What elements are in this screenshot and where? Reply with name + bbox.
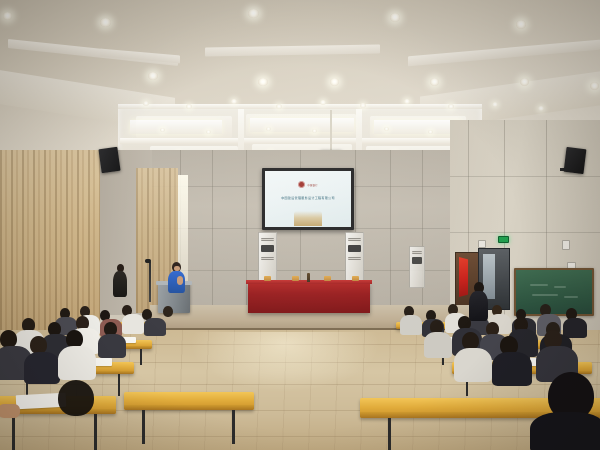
downlight [258,78,268,86]
screen-logo-text: 中国银行 [307,183,317,187]
downlight-small [312,129,317,133]
water-bottle [307,273,310,282]
downlight-small [492,102,498,107]
name-placard [292,276,299,281]
name-placard [264,276,271,281]
audience-body [98,334,126,358]
downlight [590,82,599,90]
exit-sign-right [498,236,509,243]
downlight-small [276,104,282,109]
downlight [330,78,339,86]
downlight [3,12,12,20]
downlight-small [538,106,544,111]
foreground-head-left [58,380,94,416]
presenter-arm [177,276,183,285]
green-chalkboard [514,268,594,316]
downlight-small [231,99,237,104]
audience-body [400,315,422,335]
downlight-small [266,127,271,131]
downlight [248,9,259,18]
screen-surface: 中国银行 中国建设管理服务设计工程有限公司 [265,171,351,227]
downlight-small [360,103,366,108]
ceiling-rib-h1 [120,138,480,144]
standing-person-right [469,291,488,321]
downlight [100,18,111,27]
floor-ac-left [258,232,277,282]
audience-head [163,306,173,317]
floor-ac-right [345,232,364,282]
downlight-small [320,100,326,105]
wall-speaker-left [98,147,120,173]
audience-body [424,332,452,358]
audience-body [122,314,144,334]
screen-logo: 中国银行 [265,181,351,188]
wall-box-mid [478,240,486,248]
chinese-flag [459,257,468,297]
downlight [520,78,529,86]
downlight-small [404,99,410,104]
screen-artwork [294,211,322,226]
wall-box-right [562,240,570,250]
downlight-small [143,101,149,106]
head-table [248,283,370,313]
projector-mount-icon [330,110,332,154]
ceiling-soffit-right [408,40,600,67]
audience-body [58,346,96,380]
microphone-icon [145,259,151,263]
name-placard [352,276,359,281]
lecture-hall-photo: 中国银行 中国建设管理服务设计工程有限公司 [0,0,600,450]
downlight [516,20,526,29]
downlight [430,78,439,86]
downlight-small [448,104,454,109]
downlight [148,72,158,80]
audience-body [454,348,492,382]
wall-speaker-right [564,147,587,174]
floor-light-reflection [190,332,380,392]
ceiling-soffit-center [205,44,380,56]
standing-person-left [113,271,127,297]
downlight-small [206,130,211,134]
name-placard [324,276,331,281]
microphone-stand [149,262,151,302]
ceiling-rib-edge [118,104,482,109]
downlight-small [384,127,389,131]
downlight-small [160,128,165,132]
audience-body [492,352,532,386]
audience-body [563,318,587,338]
downlight-small [186,104,192,109]
floor-ac-far-right [409,246,425,288]
bank-logo-icon [298,181,305,188]
hand-on-desk [0,404,20,418]
curtain-left-near [0,152,46,342]
audience-body [24,352,60,384]
audience-body [144,318,166,336]
downlight [390,13,400,22]
projection-screen: 中国银行 中国建设管理服务设计工程有限公司 [262,168,354,230]
screen-title-text: 中国建设管理服务设计工程有限公司 [270,196,346,200]
downlight-small [428,130,433,134]
foreground-body-right [530,412,600,450]
desk-foreground-center [124,392,254,410]
